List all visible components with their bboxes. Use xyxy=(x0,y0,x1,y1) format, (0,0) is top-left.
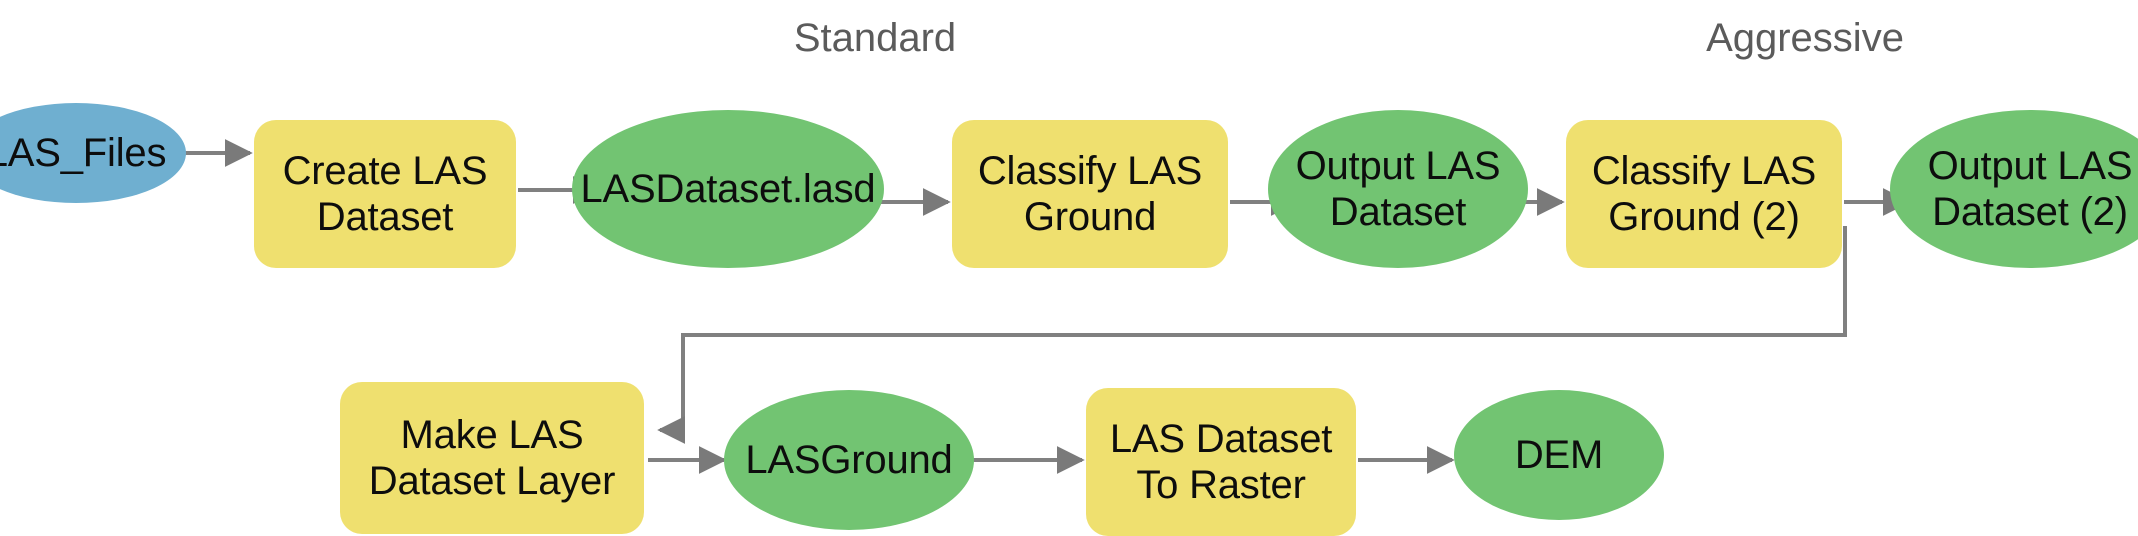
node-output-las-dataset[interactable]: Output LAS Dataset xyxy=(1268,110,1528,268)
connector-layer xyxy=(0,0,2138,536)
node-classify-las-ground-2[interactable]: Classify LAS Ground (2) xyxy=(1566,120,1842,268)
node-make-las-dataset-layer[interactable]: Make LAS Dataset Layer xyxy=(340,382,644,534)
node-las-dataset-to-raster[interactable]: LAS Dataset To Raster xyxy=(1086,388,1356,536)
group-label-standard: Standard xyxy=(794,18,956,58)
node-las-files[interactable]: LAS_Files xyxy=(0,103,186,203)
model-diagram-canvas: Standard Aggressive LAS_Files Create LAS… xyxy=(0,0,2138,536)
node-dem[interactable]: DEM xyxy=(1454,390,1664,520)
node-classify-las-ground[interactable]: Classify LAS Ground xyxy=(952,120,1228,268)
node-create-las-dataset[interactable]: Create LAS Dataset xyxy=(254,120,516,268)
node-lasdataset-lasd[interactable]: LASDataset.lasd xyxy=(572,110,884,268)
node-output-las-dataset-2[interactable]: Output LAS Dataset (2) xyxy=(1890,110,2138,268)
group-label-aggressive: Aggressive xyxy=(1706,18,1904,58)
node-lasground[interactable]: LASGround xyxy=(724,390,974,530)
